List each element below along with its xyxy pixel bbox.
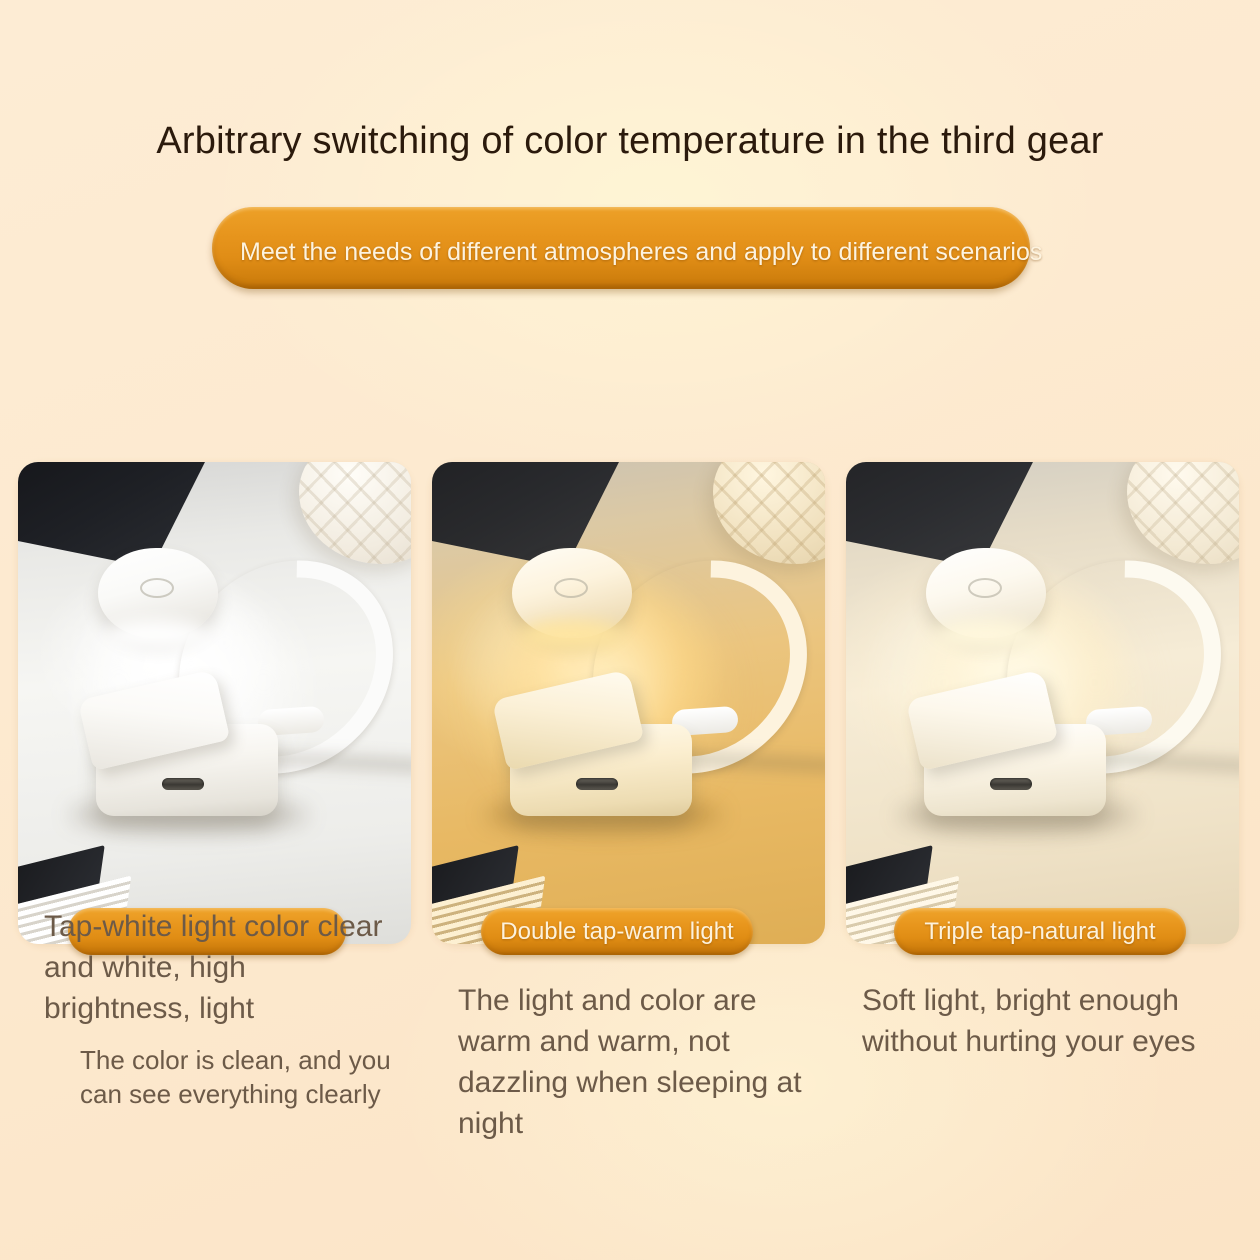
product-card-row: [0, 462, 1260, 952]
caption-sub-white-light: The color is clean, and you can see ever…: [80, 1043, 394, 1111]
caption-column-white-light: Tap-white light color clear and white, h…: [44, 906, 394, 1111]
product-photo-white-light: [18, 462, 411, 944]
subtitle-banner: Meet the needs of different atmospheres …: [212, 207, 1030, 289]
lamp-emitter: [106, 620, 210, 650]
product-photo-warm-light: [432, 462, 825, 944]
product-card-white-light: [18, 462, 411, 944]
lamp-head: [512, 548, 632, 638]
lamp-illustration: [432, 462, 825, 944]
caption-lead-natural-light: Soft light, bright enough without hurtin…: [862, 980, 1222, 1062]
page-title: Arbitrary switching of color temperature…: [0, 118, 1260, 164]
power-button-icon: [554, 578, 588, 598]
badge-warm-light-label: Double tap-warm light: [500, 918, 733, 946]
caption-column-warm-light: The light and color are warm and warm, n…: [458, 980, 828, 1144]
lamp-head: [926, 548, 1046, 638]
lamp-emitter: [520, 620, 624, 650]
lamp-head: [98, 548, 218, 638]
product-card-natural-light: [846, 462, 1239, 944]
caption-lead-white-light: Tap-white light color clear and white, h…: [44, 906, 394, 1029]
lamp-illustration: [18, 462, 411, 944]
badge-natural-light: Triple tap-natural light: [894, 908, 1186, 955]
power-button-icon: [968, 578, 1002, 598]
usb-c-port-icon: [576, 778, 618, 790]
lamp-emitter: [934, 620, 1038, 650]
product-card-warm-light: [432, 462, 825, 944]
usb-c-port-icon: [990, 778, 1032, 790]
caption-column-natural-light: Soft light, bright enough without hurtin…: [862, 980, 1222, 1062]
lamp-illustration: [846, 462, 1239, 944]
badge-warm-light: Double tap-warm light: [481, 908, 753, 955]
subtitle-banner-label: Meet the needs of different atmospheres …: [212, 237, 1030, 267]
caption-lead-warm-light: The light and color are warm and warm, n…: [458, 980, 828, 1144]
power-button-icon: [140, 578, 174, 598]
product-photo-natural-light: [846, 462, 1239, 944]
product-feature-page: Arbitrary switching of color temperature…: [0, 0, 1260, 1260]
usb-c-port-icon: [162, 778, 204, 790]
badge-natural-light-label: Triple tap-natural light: [924, 918, 1155, 946]
